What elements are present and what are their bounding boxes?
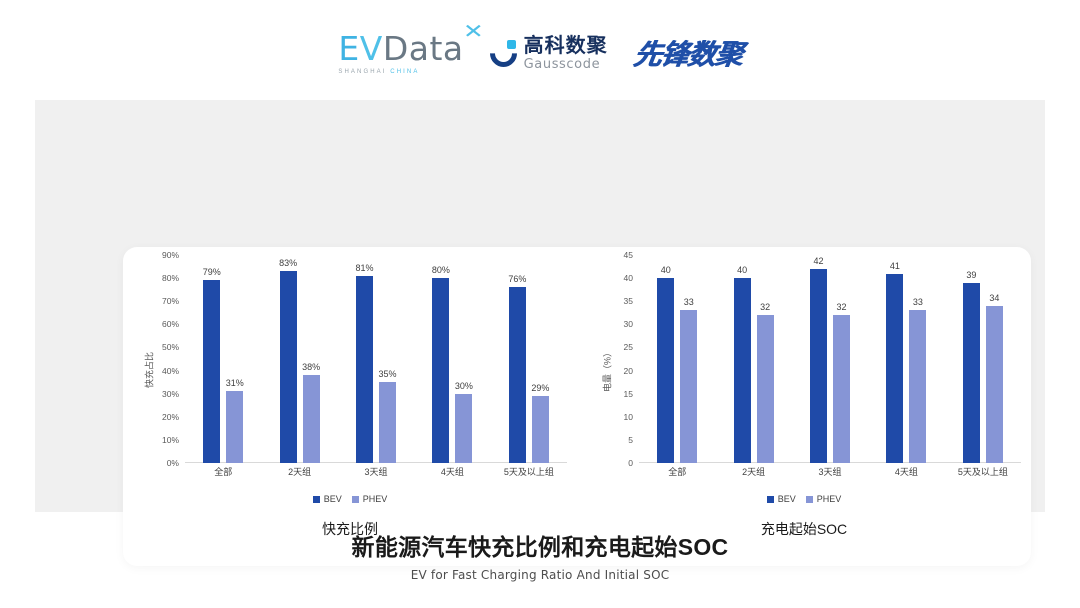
bar-group: 4232 — [792, 255, 868, 463]
bar-phev[interactable] — [532, 396, 549, 463]
legend-item-bev[interactable]: BEV — [767, 494, 796, 504]
logo-bar: EVData ✕ SHANGHAI CHINA 高科数聚 Gausscode 先… — [0, 24, 1080, 82]
bar-value-label: 76% — [508, 274, 526, 284]
bar-phev-wrapper: 31% — [226, 255, 243, 463]
bar-bev[interactable] — [432, 278, 449, 463]
legend-label: BEV — [324, 494, 342, 504]
bar-bev-wrapper: 40 — [734, 255, 751, 463]
bar-phev-wrapper: 33 — [909, 255, 926, 463]
y-axis-tick-label: 0 — [628, 458, 633, 468]
y-axis-tick-label: 90% — [162, 250, 179, 260]
bar-value-label: 30% — [455, 381, 473, 391]
chart-card: 快充占比0%10%20%30%40%50%60%70%80%90%79%31%8… — [123, 247, 1031, 566]
legend-swatch-icon — [767, 496, 774, 503]
chart-panel-background: 快充占比0%10%20%30%40%50%60%70%80%90%79%31%8… — [35, 100, 1045, 512]
bar-phev-wrapper: 38% — [303, 255, 320, 463]
bar-bev[interactable] — [203, 280, 220, 463]
bar-group: 79%31% — [185, 255, 261, 463]
y-axis-tick-label: 80% — [162, 273, 179, 283]
figure-title: 新能源汽车快充比例和充电起始SOC — [0, 528, 1080, 562]
chart-legend: BEVPHEV — [123, 491, 577, 507]
bar-bev-wrapper: 80% — [432, 255, 449, 463]
evdata-letter-e: E — [338, 32, 359, 65]
bars-plot: 79%31%83%38%81%35%80%30%76%29% — [185, 255, 567, 463]
y-axis-tick-label: 70% — [162, 296, 179, 306]
legend-label: PHEV — [363, 494, 388, 504]
bar-bev[interactable] — [810, 269, 827, 463]
bar-value-label: 29% — [531, 383, 549, 393]
y-axis-ticks: 0%10%20%30%40%50%60%70%80%90% — [143, 255, 183, 485]
chart-legend: BEVPHEV — [577, 491, 1031, 507]
bar-phev-wrapper: 30% — [455, 255, 472, 463]
figure-subtitle: EV for Fast Charging Ratio And Initial S… — [0, 568, 1080, 582]
bar-value-label: 34 — [989, 293, 999, 303]
bar-group: 4033 — [639, 255, 715, 463]
x-axis-tick-label: 2天组 — [261, 465, 337, 485]
bar-bev-wrapper: 41 — [886, 255, 903, 463]
bar-value-label: 80% — [432, 265, 450, 275]
x-axis-tick-label: 4天组 — [414, 465, 490, 485]
y-axis-tick-label: 0% — [167, 458, 179, 468]
legend-swatch-icon — [806, 496, 813, 503]
bar-bev[interactable] — [356, 276, 373, 463]
bar-value-label: 39 — [966, 270, 976, 280]
gausscode-name-en: Gausscode — [524, 58, 608, 71]
bar-phev-wrapper: 34 — [986, 255, 1003, 463]
bar-groups: 79%31%83%38%81%35%80%30%76%29% — [185, 255, 567, 463]
bar-phev[interactable] — [757, 315, 774, 463]
charts-container: 快充占比0%10%20%30%40%50%60%70%80%90%79%31%8… — [123, 247, 1031, 566]
evdata-tagline: SHANGHAI CHINA — [338, 69, 419, 75]
bar-phev-wrapper: 32 — [757, 255, 774, 463]
bar-value-label: 33 — [913, 297, 923, 307]
legend-swatch-icon — [313, 496, 320, 503]
x-axis-tick-label: 3天组 — [338, 465, 414, 485]
y-axis-tick-label: 25 — [624, 342, 633, 352]
bar-bev-wrapper: 39 — [963, 255, 980, 463]
x-axis-tick-label: 3天组 — [792, 465, 868, 485]
y-axis-tick-label: 15 — [624, 389, 633, 399]
bar-bev[interactable] — [734, 278, 751, 463]
bar-value-label: 79% — [203, 267, 221, 277]
legend-item-phev[interactable]: PHEV — [806, 494, 842, 504]
bar-phev[interactable] — [303, 375, 320, 463]
x-axis-tick-label: 2天组 — [715, 465, 791, 485]
bar-bev[interactable] — [509, 287, 526, 463]
y-axis-tick-label: 5 — [628, 435, 633, 445]
bar-groups: 40334032423241333934 — [639, 255, 1021, 463]
chart-fast-charging-ratio: 快充占比0%10%20%30%40%50%60%70%80%90%79%31%8… — [123, 247, 577, 566]
evdata-tagline-china: CHINA — [390, 69, 419, 75]
gausscode-logo: 高科数聚 Gausscode — [490, 36, 608, 71]
chart-initial-soc: 电量（%）05101520253035404540334032423241333… — [577, 247, 1031, 566]
gausscode-mark-icon — [490, 40, 517, 67]
y-axis-ticks: 051015202530354045 — [597, 255, 637, 485]
bar-value-label: 32 — [837, 302, 847, 312]
bar-group: 4032 — [715, 255, 791, 463]
figure-footer: 新能源汽车快充比例和充电起始SOC EV for Fast Charging R… — [0, 528, 1080, 582]
y-axis-tick-label: 20 — [624, 366, 633, 376]
evdata-logo: EVData ✕ SHANGHAI CHINA — [338, 32, 463, 75]
bar-value-label: 83% — [279, 258, 297, 268]
evdata-tagline-shanghai: SHANGHAI — [338, 69, 386, 75]
bar-value-label: 41 — [890, 261, 900, 271]
gausscode-text: 高科数聚 Gausscode — [524, 36, 608, 71]
bar-phev[interactable] — [680, 310, 697, 463]
bar-value-label: 38% — [302, 362, 320, 372]
gausscode-ring-icon — [484, 34, 522, 72]
evdata-cross-icon: ✕ — [463, 21, 485, 41]
y-axis-tick-label: 20% — [162, 412, 179, 422]
bar-value-label: 32 — [760, 302, 770, 312]
bar-value-label: 31% — [226, 378, 244, 388]
bar-phev-wrapper: 35% — [379, 255, 396, 463]
bar-bev-wrapper: 40 — [657, 255, 674, 463]
bar-phev[interactable] — [226, 391, 243, 463]
x-axis-tick-label: 5天及以上组 — [945, 465, 1021, 485]
y-axis-tick-label: 35 — [624, 296, 633, 306]
bar-phev[interactable] — [455, 394, 472, 463]
x-axis-tick-label: 4天组 — [868, 465, 944, 485]
bar-group: 83%38% — [261, 255, 337, 463]
y-axis-tick-label: 60% — [162, 319, 179, 329]
y-axis-tick-label: 30 — [624, 319, 633, 329]
legend-item-bev[interactable]: BEV — [313, 494, 342, 504]
evdata-word-data: Data — [383, 32, 464, 65]
bar-group: 3934 — [945, 255, 1021, 463]
xianfeng-logo: 先锋数聚 — [631, 33, 745, 73]
bar-value-label: 35% — [379, 369, 397, 379]
bar-phev-wrapper: 33 — [680, 255, 697, 463]
bar-bev-wrapper: 42 — [810, 255, 827, 463]
bar-value-label: 40 — [737, 265, 747, 275]
legend-swatch-icon — [352, 496, 359, 503]
y-axis-tick-label: 40% — [162, 366, 179, 376]
x-axis-tick-label: 5天及以上组 — [491, 465, 567, 485]
gausscode-dot-icon — [507, 40, 516, 49]
bar-bev-wrapper: 83% — [280, 255, 297, 463]
x-axis-category-labels: 全部2天组3天组4天组5天及以上组 — [185, 465, 567, 485]
x-axis-tick-label: 全部 — [639, 465, 715, 485]
bar-bev-wrapper: 79% — [203, 255, 220, 463]
y-axis-tick-label: 10 — [624, 412, 633, 422]
gausscode-name-cn: 高科数聚 — [524, 36, 608, 56]
bar-bev[interactable] — [280, 271, 297, 463]
chart-plot-area: 快充占比0%10%20%30%40%50%60%70%80%90%79%31%8… — [123, 255, 577, 485]
y-axis-tick-label: 45 — [624, 250, 633, 260]
y-axis-tick-label: 10% — [162, 435, 179, 445]
x-axis-tick-label: 全部 — [185, 465, 261, 485]
bar-bev[interactable] — [886, 274, 903, 464]
bar-value-label: 42 — [814, 256, 824, 266]
x-axis-category-labels: 全部2天组3天组4天组5天及以上组 — [639, 465, 1021, 485]
y-axis-tick-label: 50% — [162, 342, 179, 352]
bars-plot: 40334032423241333934 — [639, 255, 1021, 463]
bar-bev-wrapper: 76% — [509, 255, 526, 463]
bar-value-label: 33 — [684, 297, 694, 307]
y-axis-tick-label: 30% — [162, 389, 179, 399]
bar-bev[interactable] — [963, 283, 980, 463]
bar-group: 4133 — [868, 255, 944, 463]
legend-label: BEV — [778, 494, 796, 504]
bar-group: 80%30% — [414, 255, 490, 463]
bar-bev-wrapper: 81% — [356, 255, 373, 463]
bar-phev[interactable] — [986, 306, 1003, 463]
chart-plot-area: 电量（%）05101520253035404540334032423241333… — [577, 255, 1031, 485]
evdata-wordmark: EVData ✕ — [338, 32, 463, 65]
bar-bev[interactable] — [657, 278, 674, 463]
bar-value-label: 81% — [356, 263, 374, 273]
bar-phev-wrapper: 29% — [532, 255, 549, 463]
bar-phev[interactable] — [379, 382, 396, 463]
legend-label: PHEV — [817, 494, 842, 504]
y-axis-tick-label: 40 — [624, 273, 633, 283]
legend-item-phev[interactable]: PHEV — [352, 494, 388, 504]
evdata-letter-v: V — [360, 32, 383, 65]
bar-value-label: 40 — [661, 265, 671, 275]
bar-phev-wrapper: 32 — [833, 255, 850, 463]
bar-phev[interactable] — [833, 315, 850, 463]
bar-group: 81%35% — [338, 255, 414, 463]
bar-group: 76%29% — [491, 255, 567, 463]
bar-phev[interactable] — [909, 310, 926, 463]
